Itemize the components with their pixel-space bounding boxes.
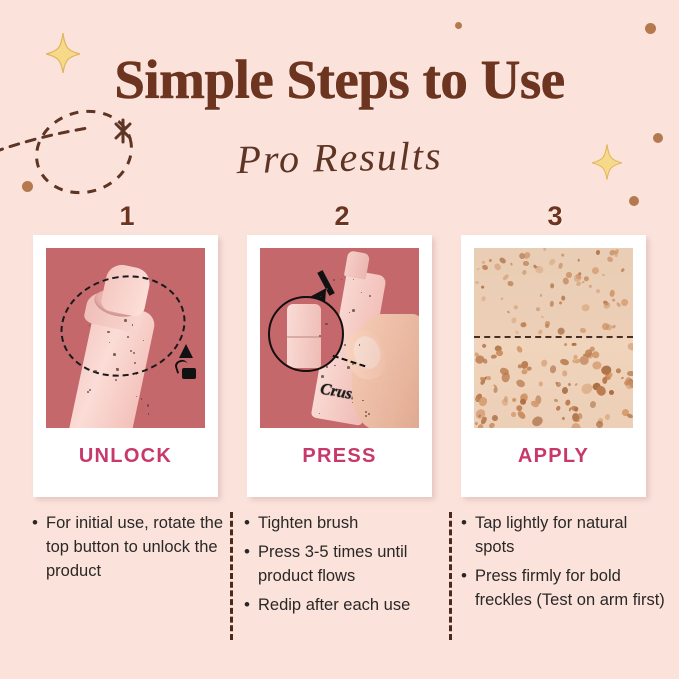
freckle [534,265,544,274]
unlock-padlock-icon [182,368,196,379]
freckle [616,368,622,374]
freckle [501,298,504,301]
freckle [572,412,579,421]
freckle [566,271,573,278]
bottle-speckle [326,366,328,368]
freckle [626,342,633,352]
freckle [590,400,597,408]
freckle [485,375,490,380]
freckle [550,283,554,288]
freckle [575,281,581,287]
dashed-divider-icon [474,336,633,338]
freckle [550,300,554,306]
freckle [574,383,577,386]
freckle [477,268,480,271]
page-subtitle: Pro Results [0,127,679,188]
freckle [510,263,513,266]
freckle [612,298,616,302]
bottle-speckle [113,353,116,356]
freckle [517,409,528,420]
bottle-speckle [362,400,363,401]
bottle-speckle [94,370,97,373]
freckle [553,399,558,403]
bottle-speckle [147,404,150,407]
up-arrow-icon [179,344,193,358]
freckle [511,397,517,403]
freckle [481,296,487,302]
freckle [515,345,523,354]
decor-dot [455,22,462,29]
freckle [562,371,567,377]
bottle-speckle [365,415,367,417]
instruction-list-3: Tap lightly for natural spots Press firm… [461,512,669,613]
rotate-dashed-ellipse-icon [51,264,195,388]
freckle [538,329,544,335]
list-item: Tighten brush [244,512,440,536]
bottle-speckle [368,413,370,415]
list-item: Redip after each use [244,594,440,618]
freckle [579,381,594,395]
freckle [560,253,564,257]
freckle [557,327,566,336]
freckle [489,258,493,262]
freckle [620,376,623,379]
freckle [488,421,496,428]
freckle [627,413,633,419]
freckle [579,327,586,333]
bottle-speckle [115,379,117,381]
bottle-speckle [333,394,335,396]
freckle [548,258,556,266]
step-3-photo [474,248,633,428]
bottle-speckle [143,340,144,341]
freckle [559,358,569,367]
freckle [501,372,511,383]
bottle-speckle [141,398,142,399]
freckle [511,411,517,418]
freckle [561,296,565,301]
inset-brush-tip [287,304,321,368]
freckle [602,273,605,275]
freckle [561,387,568,395]
freckle [611,324,616,329]
bottle-brush-cap [344,250,370,279]
step-number-3: 3 [495,201,615,232]
list-item: For initial use, rotate the top button t… [32,512,224,584]
instructions-column-3: Tap lightly for natural spots Press firm… [461,512,669,618]
freckle [604,413,610,419]
step-card-apply[interactable]: APPLY [461,235,646,497]
freckle [581,303,590,311]
freckle [609,390,614,395]
freckle [511,317,517,324]
freckle [556,405,562,411]
bottle-speckle [347,366,350,369]
freckle [595,250,600,255]
freckle [493,262,502,272]
freckle [576,259,579,263]
list-item: Press firmly for bold freckles (Test on … [461,565,669,613]
bottle-speckle [369,295,371,297]
step-card-press[interactable]: Crush PRESS [247,235,432,497]
freckle [503,396,507,402]
freckle [602,377,607,384]
freckle [490,355,496,359]
freckle [556,381,563,388]
bottle-speckle [87,391,89,393]
freckle [564,342,568,346]
freckle [539,381,543,386]
freckle [481,264,489,271]
column-divider [449,512,452,640]
freckle [567,383,571,387]
freckle [520,322,527,328]
freckle [507,311,510,314]
instructions-column-2: Tighten brush Press 3-5 times until prod… [244,512,440,623]
freckle [481,343,487,349]
poster-root: Simple Steps to Use Pro Results 1 2 3 UN… [0,0,679,679]
freckle [621,268,625,273]
bottle-speckle [321,375,324,378]
freckle [562,277,570,285]
bottle-speckle [352,309,355,312]
step-3-caption: APPLY [474,445,633,468]
freckle [521,269,527,275]
freckle [523,261,530,266]
freckle [571,422,581,428]
bottle-speckle [325,323,327,325]
step-number-1: 1 [67,201,187,232]
freckle [515,330,520,335]
freckle [558,262,563,268]
freckle [590,266,600,276]
magnifier-inset-icon [268,296,344,372]
freckle [572,343,577,346]
bottle-speckle [326,288,328,290]
freckle [530,414,544,428]
freckle [584,275,590,281]
decor-dot [629,196,639,206]
bottle-speckle [319,335,321,337]
bottle-speckle [341,279,342,280]
freckle [614,248,620,255]
list-item: Tap lightly for natural spots [461,512,669,560]
freckle [513,304,519,310]
freckle [541,315,544,318]
bottle-speckle [107,331,109,333]
freckle [475,281,479,284]
page-title: Simple Steps to Use [0,48,679,111]
freckle [482,260,485,263]
bottle-speckle [89,325,90,326]
step-1-photo [46,248,205,428]
column-divider [230,512,233,640]
freckle [515,378,527,389]
freckle [545,321,551,326]
bottle-speckle [148,413,150,415]
freckle [610,289,615,296]
freckle [627,371,633,377]
step-card-unlock[interactable]: UNLOCK [33,235,218,497]
freckle [561,416,565,420]
bottle-speckle [136,396,137,397]
decor-dot [645,23,656,34]
step-number-2: 2 [282,201,402,232]
freckle [521,369,528,375]
freckle [535,307,540,311]
freckle [596,288,601,294]
step-2-photo: Crush [260,248,419,428]
freckle [574,406,579,411]
instruction-list-1: For initial use, rotate the top button t… [32,512,224,584]
freckle [540,293,543,296]
freckle [589,284,592,287]
freckle [541,359,548,367]
freckle [606,255,614,263]
freckle [543,248,547,252]
freckle [492,415,499,422]
step-1-caption: UNLOCK [46,445,205,468]
instructions-column-1: For initial use, rotate the top button t… [32,512,224,589]
freckle [507,281,514,288]
bottle-speckle [124,319,127,322]
freckle [481,285,485,289]
freckle [549,364,557,373]
list-item: Press 3-5 times until product flows [244,541,440,589]
step-2-caption: PRESS [260,445,419,468]
bottle-speckle [333,279,335,281]
instruction-list-2: Tighten brush Press 3-5 times until prod… [244,512,440,618]
freckle [559,301,563,305]
freckle [565,399,572,406]
